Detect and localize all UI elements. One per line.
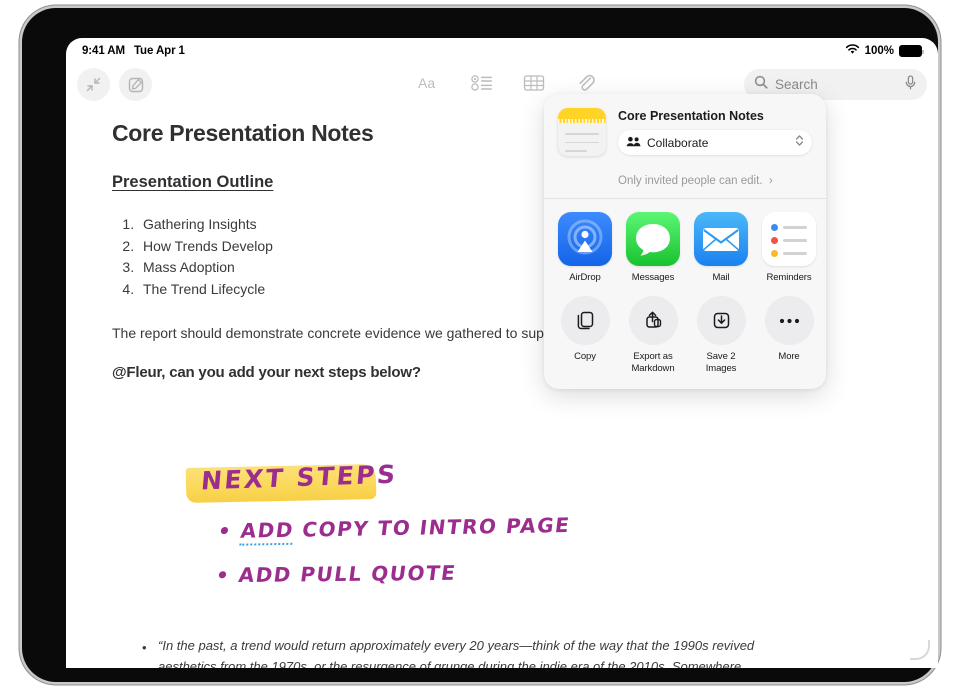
action-label: More — [762, 351, 816, 363]
screen: 9:41 AM Tue Apr 1 100% — [66, 38, 938, 668]
action-export-markdown[interactable]: Export as Markdown — [626, 296, 680, 375]
people-icon — [626, 134, 641, 152]
share-sheet-header: Core Presentation Notes Collaborate — [544, 94, 826, 166]
share-target-label: Messages — [626, 272, 680, 283]
copy-icon — [561, 296, 610, 345]
action-label: Export as Markdown — [626, 351, 680, 375]
note-thumbnail-icon — [558, 108, 606, 156]
compose-icon[interactable] — [119, 68, 152, 101]
permission-row[interactable]: Only invited people can edit. › — [544, 166, 826, 187]
device-frame: 9:41 AM Tue Apr 1 100% — [22, 8, 938, 682]
status-time: 9:41 AM — [82, 45, 125, 57]
battery-percent: 100% — [865, 45, 894, 57]
share-target-airdrop[interactable]: AirDrop — [558, 212, 612, 283]
collaborate-label: Collaborate — [647, 136, 789, 150]
collaborate-dropdown[interactable]: Collaborate — [618, 130, 812, 155]
quote-bullet: • — [142, 638, 147, 659]
handwriting-item-2-text: ADD PULL QUOTE — [237, 561, 458, 587]
more-dots-icon — [765, 296, 814, 345]
airdrop-icon — [558, 212, 612, 266]
status-date: Tue Apr 1 — [134, 45, 185, 57]
table-icon[interactable] — [519, 68, 549, 98]
status-bar: 9:41 AM Tue Apr 1 100% — [66, 38, 938, 64]
chevron-right-icon: › — [766, 175, 773, 187]
microphone-icon[interactable] — [904, 75, 917, 95]
share-app-row[interactable]: AirDrop Messages — [544, 199, 826, 283]
chevron-up-down-icon — [795, 134, 804, 152]
action-copy[interactable]: Copy — [558, 296, 612, 375]
quote-text: “In the past, a trend would return appro… — [158, 638, 754, 668]
export-icon — [629, 296, 678, 345]
svg-text:Aa: Aa — [418, 75, 435, 91]
handwriting-bullet-2: • — [214, 563, 240, 587]
action-label: Save 2 Images — [694, 351, 748, 375]
share-sheet[interactable]: Core Presentation Notes Collaborate — [544, 94, 826, 389]
action-save-images[interactable]: Save 2 Images — [694, 296, 748, 375]
format-text-icon[interactable]: Aa — [415, 68, 445, 98]
quote-block: • “In the past, a trend would return app… — [158, 636, 768, 668]
battery-icon — [899, 45, 922, 57]
share-target-label: AirDrop — [558, 272, 612, 283]
messages-icon — [626, 212, 680, 266]
share-sheet-title: Core Presentation Notes — [618, 109, 812, 123]
reminders-icon — [762, 212, 816, 266]
share-target-label: Reminders — [762, 272, 816, 283]
handwriting-item-1-rest: COPY TO INTRO PAGE — [292, 513, 571, 542]
spellcheck-underlined-word: ADD — [239, 518, 296, 546]
collapse-arrows-icon[interactable] — [77, 68, 110, 101]
mail-icon — [694, 212, 748, 266]
permission-text: Only invited people can edit. — [618, 175, 762, 187]
section-heading: Presentation Outline — [112, 173, 273, 192]
share-target-label: Mail — [694, 272, 748, 283]
action-more[interactable]: More — [762, 296, 816, 375]
share-target-reminders[interactable]: Reminders — [762, 212, 816, 283]
search-placeholder: Search — [775, 77, 897, 92]
search-icon — [754, 75, 768, 94]
save-download-icon — [697, 296, 746, 345]
share-action-row[interactable]: Copy Export as Markdown — [544, 283, 826, 375]
handwriting-bullet-1: • — [217, 519, 243, 543]
checklist-icon[interactable] — [467, 68, 497, 98]
action-label: Copy — [558, 351, 612, 363]
share-target-messages[interactable]: Messages — [626, 212, 680, 283]
wifi-icon — [845, 44, 860, 58]
handwriting-item-2: • ADD PULL QUOTE — [214, 561, 457, 588]
share-target-mail[interactable]: Mail — [694, 212, 748, 283]
